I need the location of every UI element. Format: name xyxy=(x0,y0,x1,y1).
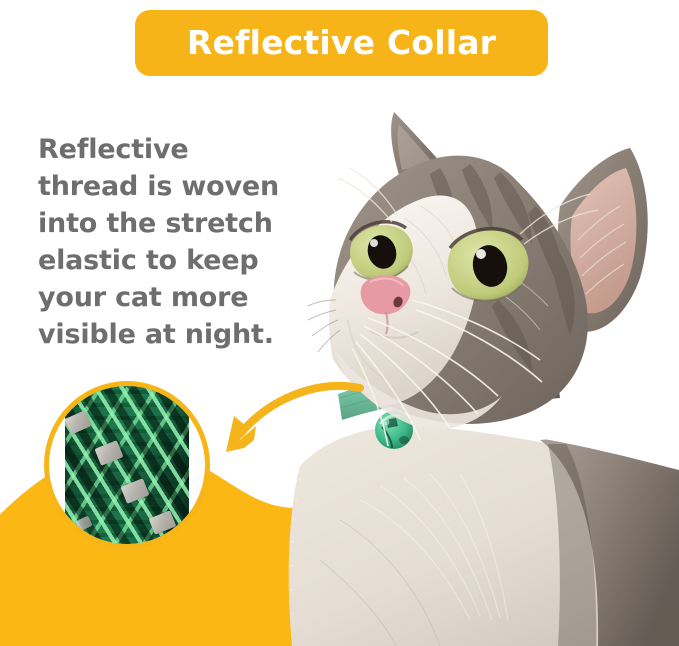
cat-eye-right xyxy=(448,229,529,301)
description-line-3: into the stretch xyxy=(38,205,300,242)
fabric-closeup-circle xyxy=(44,381,210,549)
page-title: Reflective Collar xyxy=(187,26,496,59)
description-line-2: thread is woven xyxy=(38,168,300,205)
description-line-5: your cat more xyxy=(38,279,300,316)
description-line-6: visible at night. xyxy=(38,316,300,353)
title-banner: Reflective Collar xyxy=(135,10,548,76)
product-infographic: Reflective Collar Reflective thread is w… xyxy=(0,0,679,646)
reflective-fabric-swatch xyxy=(65,381,189,549)
description-line-1: Reflective xyxy=(38,131,300,168)
curved-pointer-arrow xyxy=(210,378,370,473)
description-line-4: elastic to keep xyxy=(38,242,300,279)
description-text: Reflective thread is woven into the stre… xyxy=(38,131,300,353)
